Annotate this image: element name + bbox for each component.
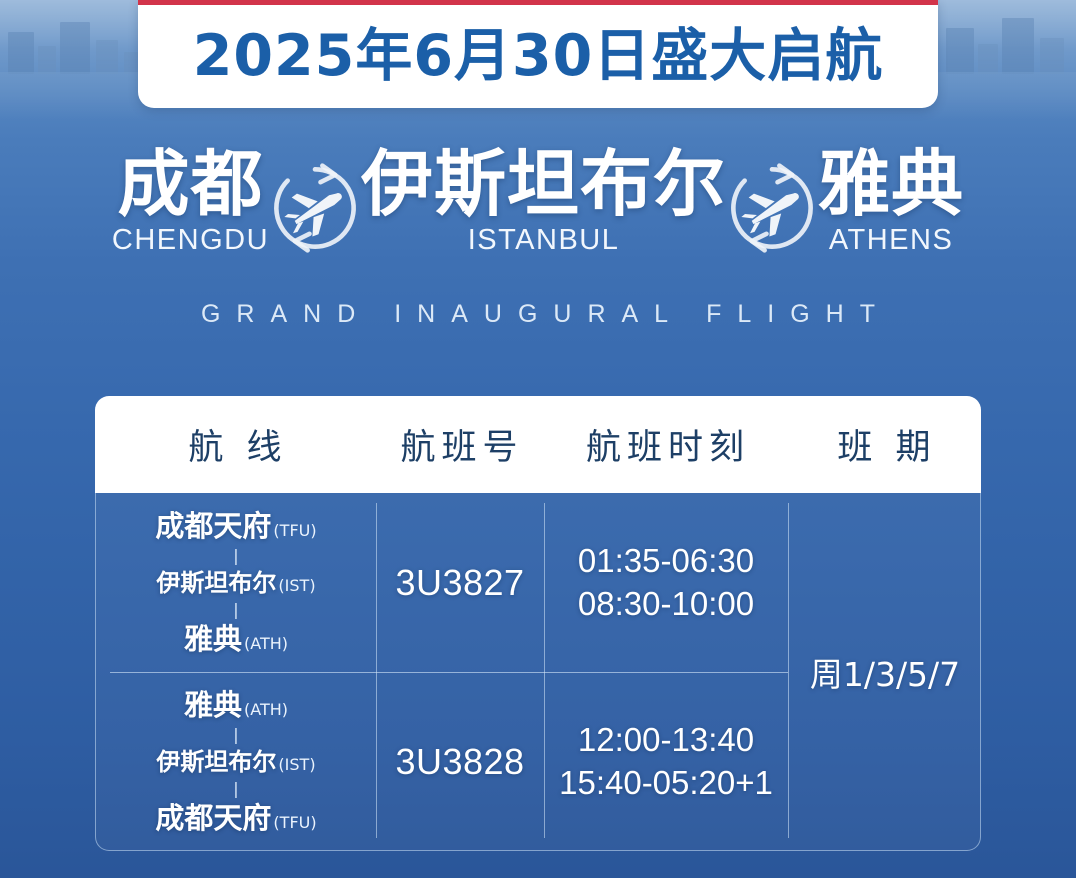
- column-header-schedule-time: 航班时刻: [543, 419, 787, 470]
- leg-connector: |: [96, 548, 376, 564]
- leg-connector: |: [96, 781, 376, 797]
- route-cell: 雅典(ATH) | 伊斯坦布尔(IST) | 成都天府(TFU): [96, 691, 376, 833]
- route-leg: 雅典(ATH): [96, 625, 376, 654]
- flight-number: 3U3828: [376, 741, 544, 783]
- city-chengdu: 成都 CHENGDU: [112, 148, 269, 255]
- city-istanbul: 伊斯坦布尔 ISTANBUL: [361, 148, 726, 255]
- skyline-building: [8, 32, 34, 74]
- city-cn-name: 雅典: [818, 148, 964, 220]
- flight-time-line: 08:30-10:00: [544, 583, 788, 625]
- city-en-name: ATHENS: [818, 226, 964, 255]
- flight-number: 3U3827: [376, 562, 544, 604]
- leg-code: (ATH): [244, 634, 288, 653]
- leg-name: 伊斯坦布尔: [156, 748, 276, 776]
- skyline-building: [60, 22, 90, 74]
- flight-times: 01:35-06:30 08:30-10:00: [544, 540, 788, 624]
- leg-name: 成都天府: [155, 509, 271, 543]
- leg-code: (ATH): [244, 700, 288, 719]
- route-leg: 伊斯坦布尔(IST): [96, 571, 376, 595]
- skyline-building: [96, 40, 118, 74]
- skyline-building: [1002, 18, 1034, 74]
- table-body: 成都天府(TFU) | 伊斯坦布尔(IST) | 雅典(ATH) 3U3827 …: [95, 493, 981, 851]
- leg-name: 伊斯坦布尔: [156, 569, 276, 597]
- page-title: 2025年6月30日盛大启航: [193, 28, 884, 85]
- airplane-circle-icon: [726, 162, 818, 254]
- skyline-building: [946, 28, 974, 74]
- leg-code: (TFU): [273, 521, 316, 540]
- city-athens: 雅典 ATHENS: [818, 148, 964, 255]
- skyline-building: [1040, 38, 1064, 74]
- leg-name: 成都天府: [155, 801, 271, 835]
- leg-code: (TFU): [273, 813, 316, 832]
- flight-time-line: 15:40-05:20+1: [544, 762, 788, 804]
- city-en-name: CHENGDU: [112, 226, 269, 255]
- title-card: 2025年6月30日盛大启航: [138, 0, 938, 108]
- skyline-building: [978, 44, 998, 74]
- poster-root: 2025年6月30日盛大启航 成都 CHENGDU 伊斯坦布: [0, 0, 1076, 878]
- city-cn-name: 伊斯坦布尔: [361, 148, 726, 220]
- flight-time-line: 01:35-06:30: [544, 540, 788, 582]
- frequency-value: 周1/3/5/7: [788, 493, 982, 851]
- airplane-circle-icon: [269, 162, 361, 254]
- leg-code: (IST): [278, 576, 315, 595]
- route-leg: 伊斯坦布尔(IST): [96, 750, 376, 774]
- route-leg: 成都天府(TFU): [96, 512, 376, 541]
- column-header-route: 航 线: [95, 419, 375, 470]
- route-leg: 成都天府(TFU): [96, 804, 376, 833]
- schedule-table: 航 线 航班号 航班时刻 班 期 成都天府(TFU) | 伊斯坦布尔(IST): [95, 396, 981, 851]
- flight-time-line: 12:00-13:40: [544, 719, 788, 761]
- flight-times: 12:00-13:40 15:40-05:20+1: [544, 719, 788, 803]
- table-row: 雅典(ATH) | 伊斯坦布尔(IST) | 成都天府(TFU) 3U3828 …: [96, 672, 788, 851]
- skyline-building: [38, 46, 56, 74]
- table-row: 成都天府(TFU) | 伊斯坦布尔(IST) | 雅典(ATH) 3U3827 …: [96, 493, 788, 672]
- column-header-frequency: 班 期: [787, 419, 981, 470]
- inaugural-subtitle: GRAND INAUGURAL FLIGHT: [0, 300, 1076, 329]
- city-cn-name: 成都: [112, 148, 269, 220]
- leg-connector: |: [96, 602, 376, 618]
- route-leg: 雅典(ATH): [96, 691, 376, 720]
- city-en-name: ISTANBUL: [361, 226, 726, 255]
- leg-name: 雅典: [184, 688, 242, 722]
- table-header-row: 航 线 航班号 航班时刻 班 期: [95, 396, 981, 493]
- leg-name: 雅典: [184, 622, 242, 656]
- leg-connector: |: [96, 727, 376, 743]
- route-cell: 成都天府(TFU) | 伊斯坦布尔(IST) | 雅典(ATH): [96, 512, 376, 654]
- leg-code: (IST): [278, 755, 315, 774]
- column-header-flight-no: 航班号: [375, 419, 543, 470]
- route-headline: 成都 CHENGDU 伊斯坦布尔 ISTANBUL: [0, 148, 1076, 255]
